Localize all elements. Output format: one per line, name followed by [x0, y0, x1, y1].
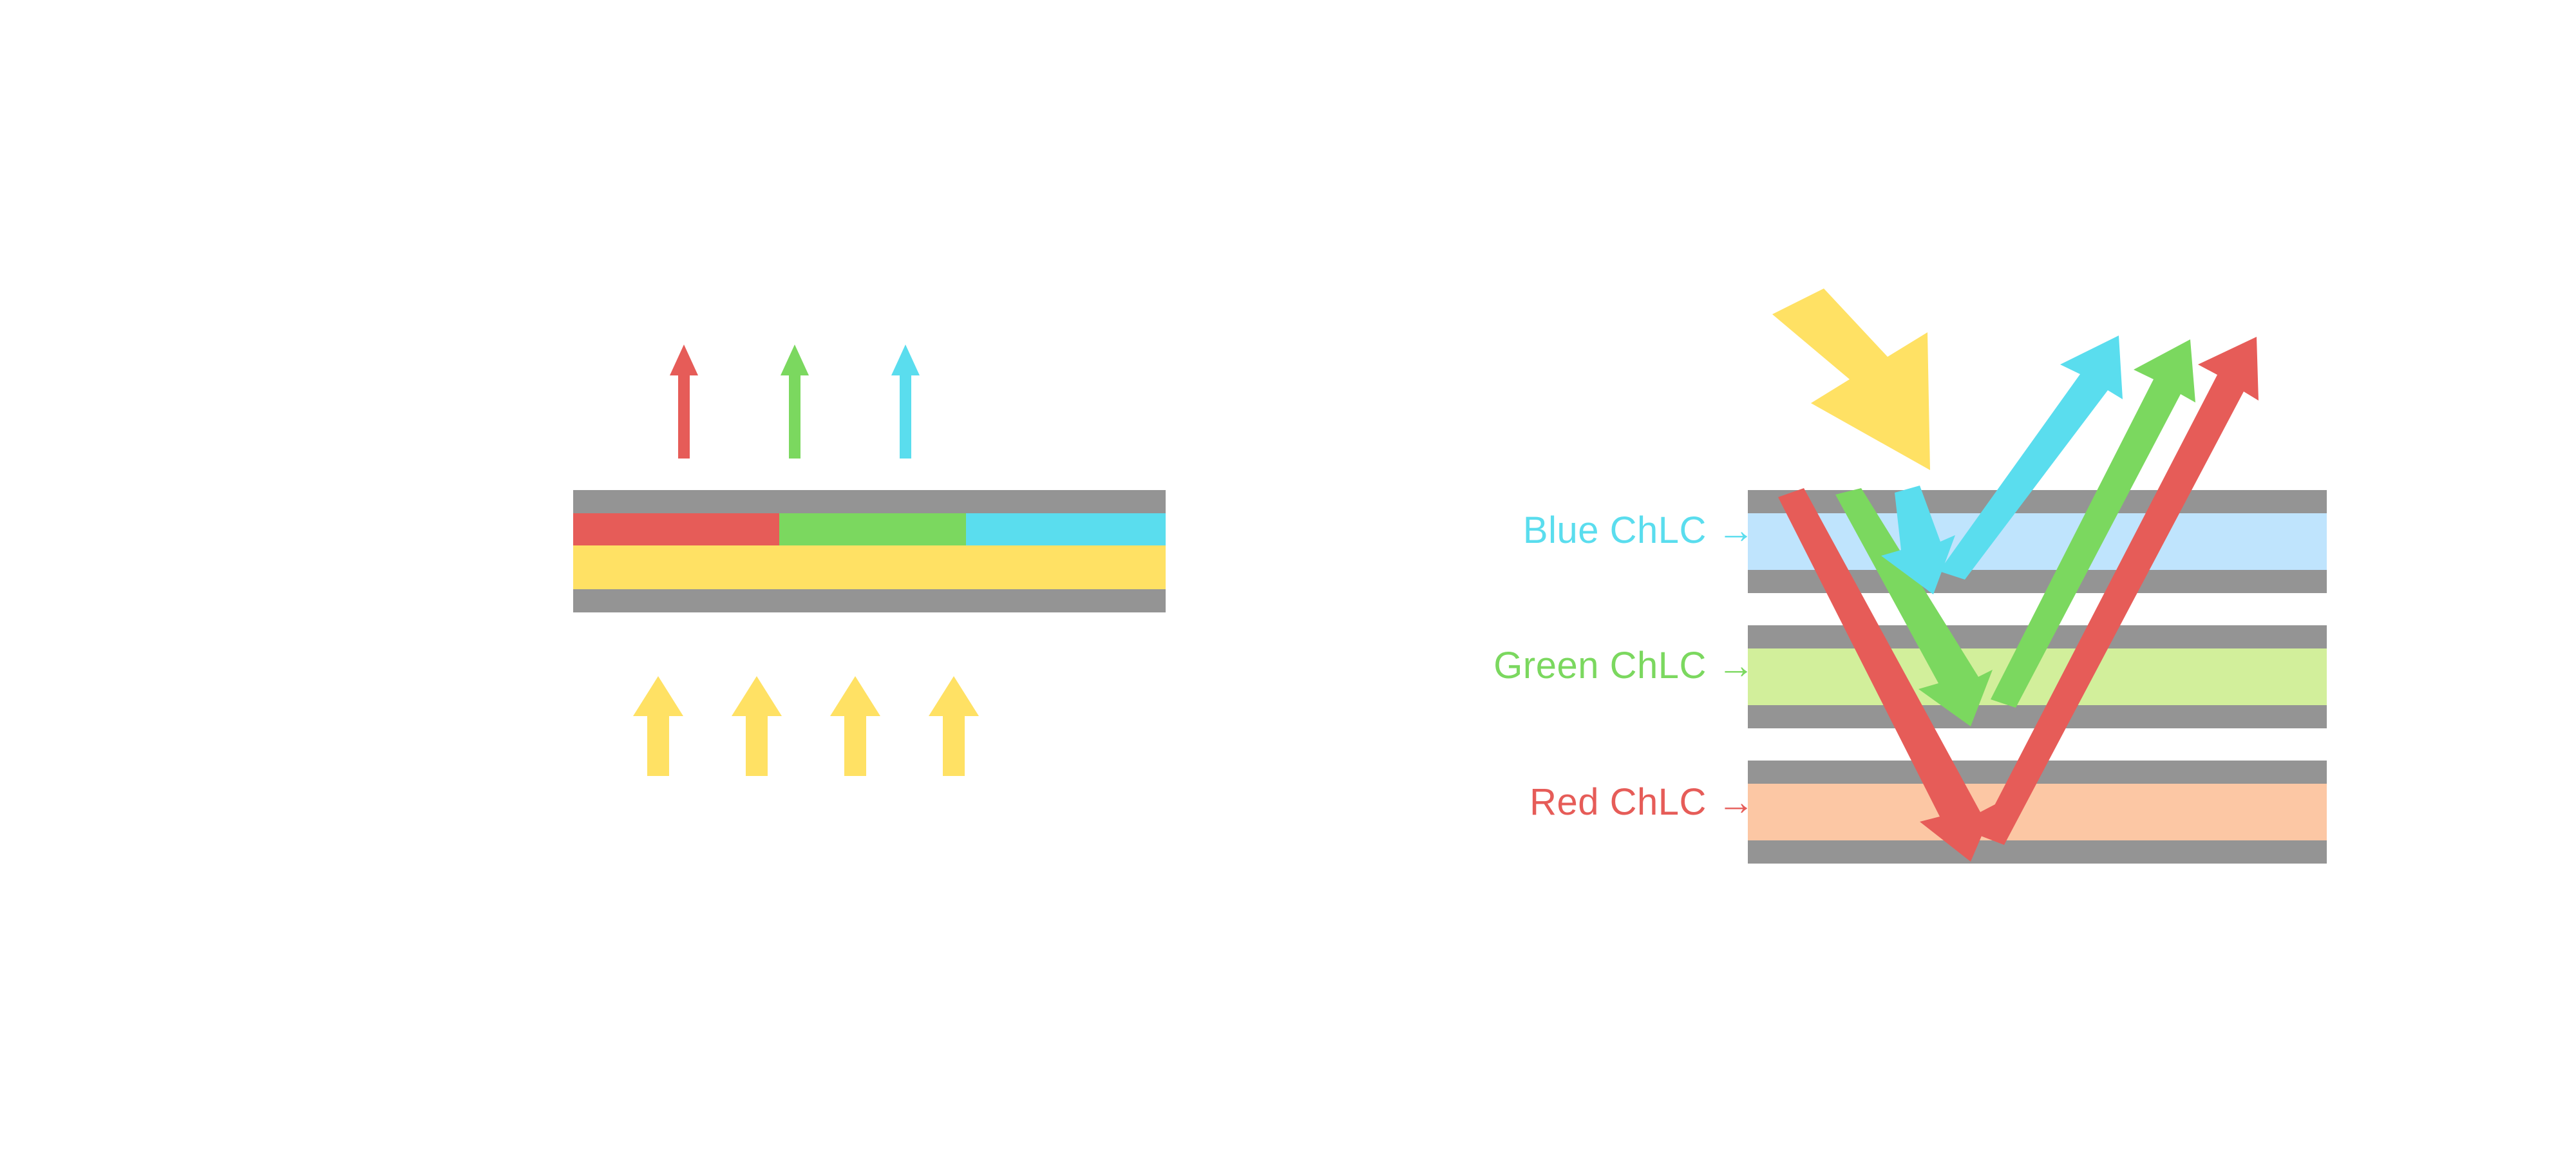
blue-cell-top-electrode: [1748, 490, 2327, 513]
green-chlc-label: Green ChLC →: [1385, 644, 1755, 687]
right-panel-graphics: [0, 0, 2576, 1154]
red-chlc-label: Red ChLC →: [1420, 780, 1755, 824]
ambient-light-arrow: [1772, 288, 1930, 470]
red-cell-bottom-electrode: [1748, 840, 2327, 864]
diagram-canvas: Blue ChLC → Green ChLC → Red ChLC →: [0, 0, 2576, 1154]
blue-chlc-label: Blue ChLC →: [1420, 509, 1755, 552]
red-chlc-medium: [1748, 784, 2327, 840]
